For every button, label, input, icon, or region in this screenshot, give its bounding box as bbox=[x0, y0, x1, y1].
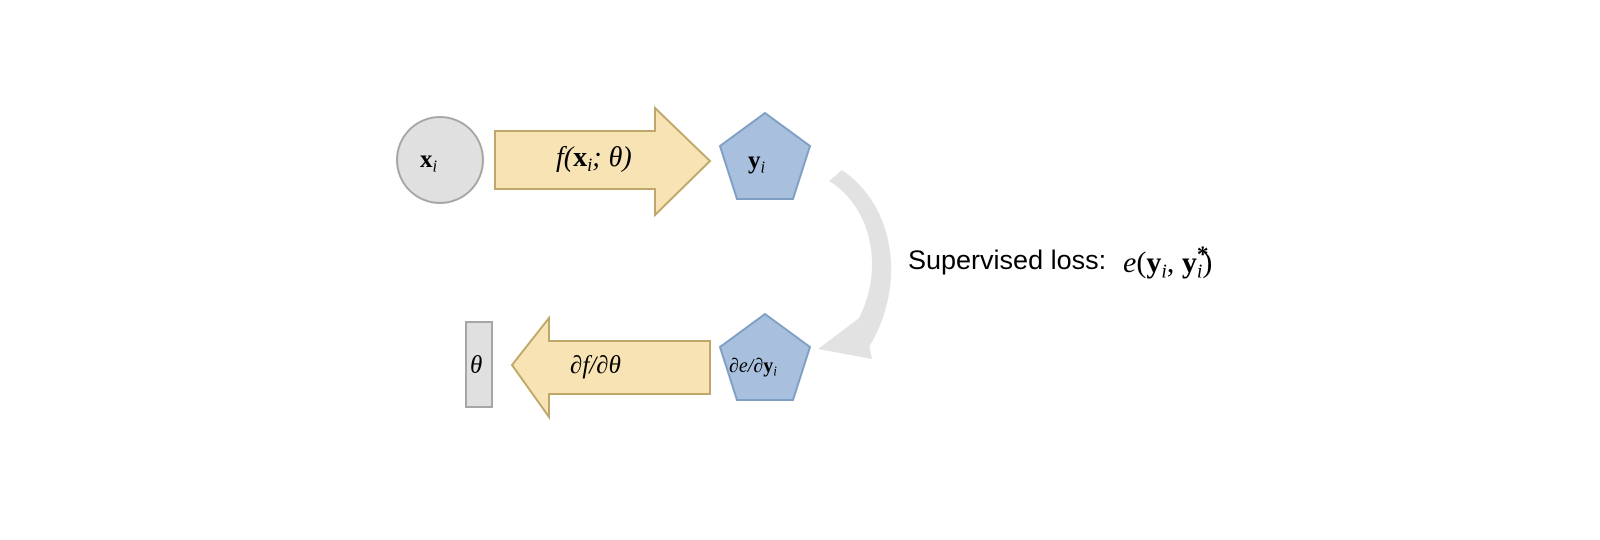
curved-loss-arrow bbox=[818, 170, 891, 359]
input-circle bbox=[397, 117, 483, 203]
output-pentagon bbox=[720, 113, 810, 199]
backward-arrow bbox=[512, 318, 710, 417]
gradient-pentagon bbox=[720, 314, 810, 400]
diagram-canvas bbox=[0, 0, 1600, 540]
forward-arrow bbox=[495, 108, 710, 215]
theta-bar bbox=[466, 322, 492, 407]
